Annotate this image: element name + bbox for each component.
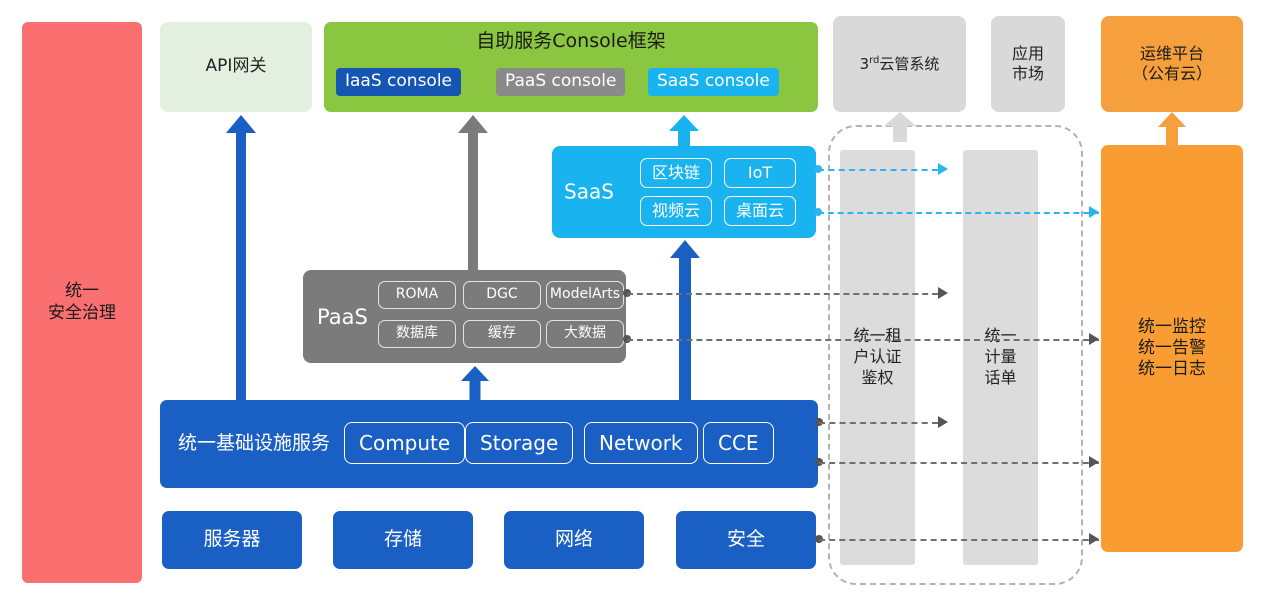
third-cloud-label: 3rd云管系统: [860, 55, 940, 74]
arrow-ops-column-to-ops-platform: [1157, 112, 1187, 148]
paas-chip-roma[interactable]: ROMA: [378, 281, 456, 309]
iaas-console-chip[interactable]: IaaS console: [336, 68, 461, 96]
paas-chip-dgc[interactable]: DGC: [463, 281, 541, 309]
paas-chip-modelarts[interactable]: ModelArts: [546, 281, 624, 309]
self-service-console-frame: 自助服务Console框架 IaaS console PaaS console …: [324, 22, 818, 112]
saas-chip-blockchain[interactable]: 区块链: [640, 158, 712, 188]
saas-chip-video-cloud[interactable]: 视频云: [640, 196, 712, 226]
saas-console-chip[interactable]: SaaS console: [648, 68, 779, 96]
infra-label: 统一基础设施服务: [178, 432, 330, 456]
infra-chip-compute[interactable]: Compute: [344, 422, 465, 464]
arrow-shared-services-to-third-cloud: [885, 112, 915, 140]
third-party-cloud-management-box: 3rd云管系统: [833, 16, 966, 112]
security-governance-column: 统一安全治理: [22, 22, 142, 583]
hardware-box-server: 服务器: [162, 511, 302, 569]
paas-label: PaaS: [317, 303, 368, 329]
infra-chip-storage[interactable]: Storage: [465, 422, 573, 464]
paas-console-chip[interactable]: PaaS console: [496, 68, 625, 96]
third-cloud-rest: 云管系统: [879, 55, 939, 73]
paas-chip-cache[interactable]: 缓存: [463, 320, 541, 348]
api-gateway-box: API网关: [160, 22, 312, 112]
hardware-box-storage: 存储: [333, 511, 473, 569]
paas-chip-bigdata[interactable]: 大数据: [546, 320, 624, 348]
paas-block: PaaS ROMA DGC ModelArts 数据库 缓存 大数据: [303, 270, 626, 363]
paas-chip-database[interactable]: 数据库: [378, 320, 456, 348]
saas-chip-iot[interactable]: IoT: [724, 158, 796, 188]
arrow-infra-to-saas: [670, 240, 700, 402]
ops-platform-public-cloud-box: 运维平台（公有云）: [1101, 16, 1243, 112]
saas-label: SaaS: [564, 180, 614, 205]
app-market-box: 应用市场: [991, 16, 1065, 112]
infra-chip-cce[interactable]: CCE: [703, 422, 774, 464]
arrow-saas-to-console: [669, 115, 699, 149]
saas-block: SaaS 区块链 IoT 视频云 桌面云: [552, 146, 816, 238]
hardware-box-network: 网络: [504, 511, 644, 569]
unified-infrastructure-bar: 统一基础设施服务 Compute Storage Network CCE: [160, 400, 818, 488]
infra-chip-network[interactable]: Network: [584, 422, 698, 464]
console-frame-title: 自助服务Console框架: [324, 30, 818, 54]
arrow-infra-to-paas: [461, 366, 489, 402]
ops-platform-column: 统一监控统一告警统一日志: [1101, 145, 1243, 552]
saas-chip-desktop-cloud[interactable]: 桌面云: [724, 196, 796, 226]
third-cloud-prefix: 3: [860, 55, 870, 73]
arrow-infra-to-api-gateway: [226, 115, 256, 403]
architecture-diagram: 统一安全治理 API网关 自助服务Console框架 IaaS console …: [0, 0, 1265, 605]
arrow-paas-to-console: [458, 115, 488, 273]
hardware-box-security: 安全: [676, 511, 816, 569]
third-cloud-superscript: rd: [869, 55, 879, 66]
